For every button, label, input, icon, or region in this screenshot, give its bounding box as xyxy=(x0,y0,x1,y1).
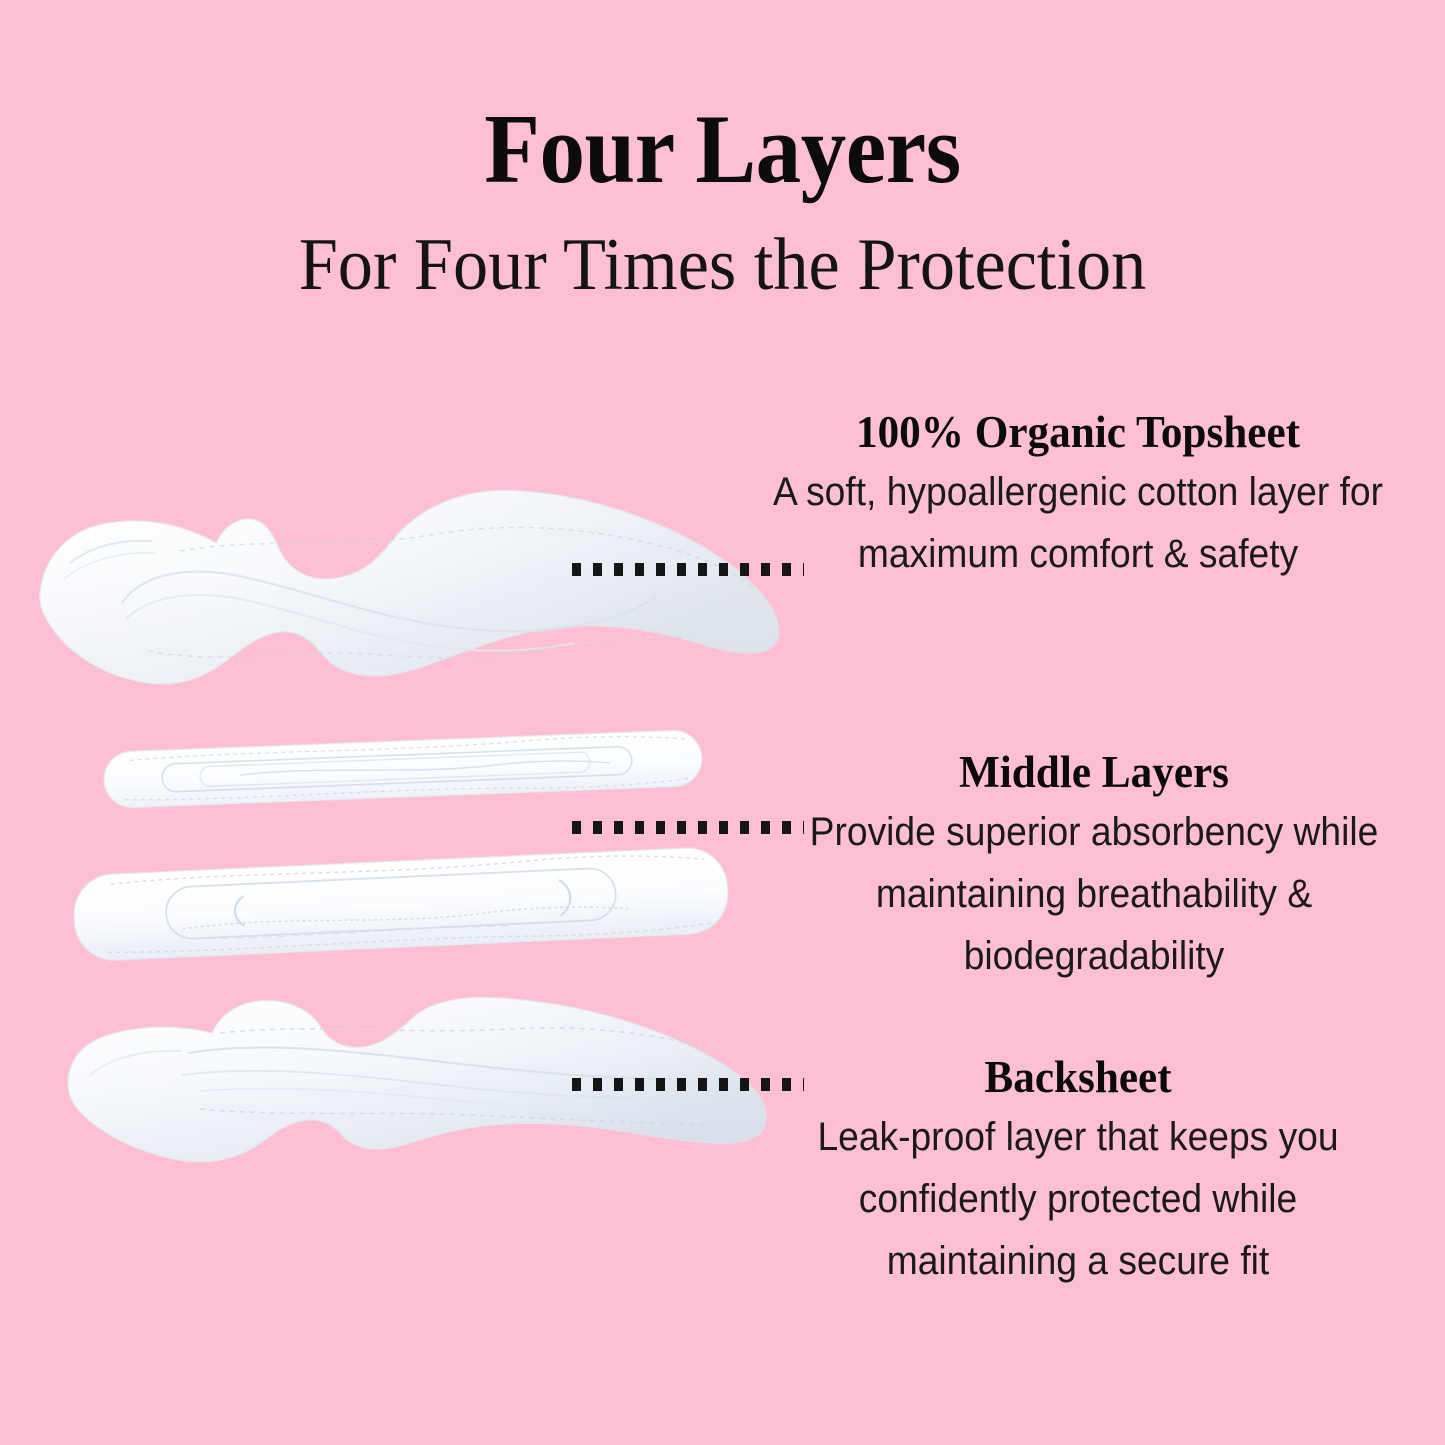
feature-backsheet-heading: Backsheet xyxy=(761,1053,1395,1102)
feature-middle: Middle Layers Provide superior absorbenc… xyxy=(760,748,1428,987)
feature-topsheet-heading: 100% Organic Topsheet xyxy=(761,408,1395,457)
four-layers-infographic: Four Layers For Four Times the Protectio… xyxy=(0,0,1445,1445)
sanitary-pad-absorbent-middle-layer-illustration xyxy=(62,845,742,970)
page-title: Four Layers xyxy=(58,100,1387,199)
sanitary-pad-topsheet-illustration xyxy=(30,485,790,715)
feature-backsheet-body: Leak-proof layer that keeps you confiden… xyxy=(771,1106,1385,1292)
feature-middle-body: Provide superior absorbency while mainta… xyxy=(783,801,1404,987)
feature-topsheet-body: A soft, hypoallergenic cotton layer for … xyxy=(771,461,1385,585)
feature-middle-heading: Middle Layers xyxy=(773,748,1414,797)
sanitary-pad-thin-middle-layer-illustration xyxy=(90,715,715,825)
feature-topsheet: 100% Organic Topsheet A soft, hypoallerg… xyxy=(748,408,1408,585)
page-subtitle: For Four Times the Protection xyxy=(36,228,1409,302)
feature-backsheet: Backsheet Leak-proof layer that keeps yo… xyxy=(748,1053,1408,1292)
